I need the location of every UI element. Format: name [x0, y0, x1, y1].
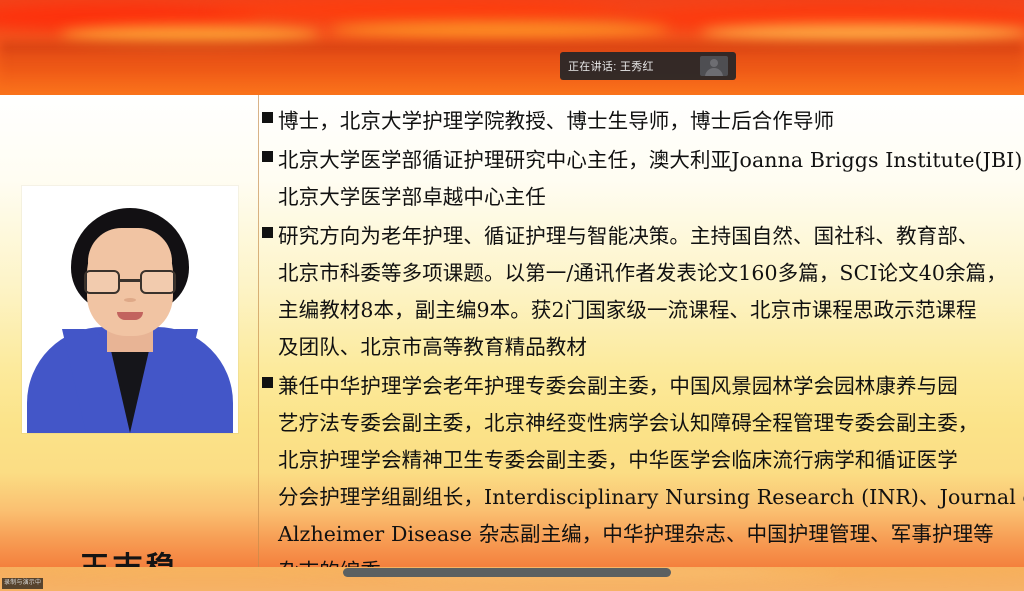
list-item: 研究方向为老年护理、循证护理与智能决策。主持国自然、国社科、教育部、 北京市科委… — [262, 218, 1024, 366]
presentation-slide: 王志稳 博士，北京大学护理学院教授、博士生导师，博士后合作导师 北京大学医学部循… — [0, 95, 1024, 567]
square-bullet-icon — [262, 151, 273, 162]
glasses-bridge — [120, 279, 140, 282]
slide-bullet-list: 博士，北京大学护理学院教授、博士生导师，博士后合作导师 北京大学医学部循证护理研… — [262, 103, 1024, 567]
speaker-portrait — [22, 186, 238, 433]
cloud-shape — [330, 22, 670, 38]
list-item: 博士，北京大学护理学院教授、博士生导师，博士后合作导师 — [262, 103, 1024, 140]
list-item: 兼任中华护理学会老年护理专委会副主委，中国风景园林学会园林康养与园 艺疗法专委会… — [262, 368, 1024, 567]
bullet-text: 研究方向为老年护理、循证护理与智能决策。主持国自然、国社科、教育部、 北京市科委… — [278, 218, 1007, 366]
square-bullet-icon — [262, 377, 273, 388]
bullet-text: 兼任中华护理学会老年护理专委会副主委，中国风景园林学会园林康养与园 艺疗法专委会… — [278, 368, 1024, 567]
portrait-mouth — [117, 312, 143, 320]
slide-divider — [258, 95, 259, 567]
glasses-lens-right — [140, 270, 176, 294]
person-avatar-icon — [700, 56, 728, 76]
speaking-indicator-label: 正在讲话: 王秀红 — [568, 58, 654, 74]
cloud-shape — [210, 0, 630, 22]
progress-bar[interactable] — [343, 568, 671, 577]
portrait-nose — [124, 298, 136, 302]
horizon-ridge — [0, 58, 1024, 88]
portrait-glasses — [84, 270, 176, 294]
meeting-screen: 正在讲话: 王秀红 王志稳 — [0, 0, 1024, 591]
bullet-text: 博士，北京大学护理学院教授、博士生导师，博士后合作导师 — [278, 103, 834, 140]
glasses-lens-left — [84, 270, 120, 294]
cloud-shape — [700, 24, 1024, 42]
bullet-text: 北京大学医学部循证护理研究中心主任，澳大利亚Joanna Briggs Inst… — [278, 142, 1022, 216]
square-bullet-icon — [262, 112, 273, 123]
speaking-indicator: 正在讲话: 王秀红 — [560, 52, 736, 80]
speaker-name: 王志稳 — [0, 543, 258, 567]
slide-speaker-panel: 王志稳 — [0, 95, 258, 567]
square-bullet-icon — [262, 227, 273, 238]
list-item: 北京大学医学部循证护理研究中心主任，澳大利亚Joanna Briggs Inst… — [262, 142, 1024, 216]
recording-watermark: 录制与演示中 — [2, 578, 43, 589]
